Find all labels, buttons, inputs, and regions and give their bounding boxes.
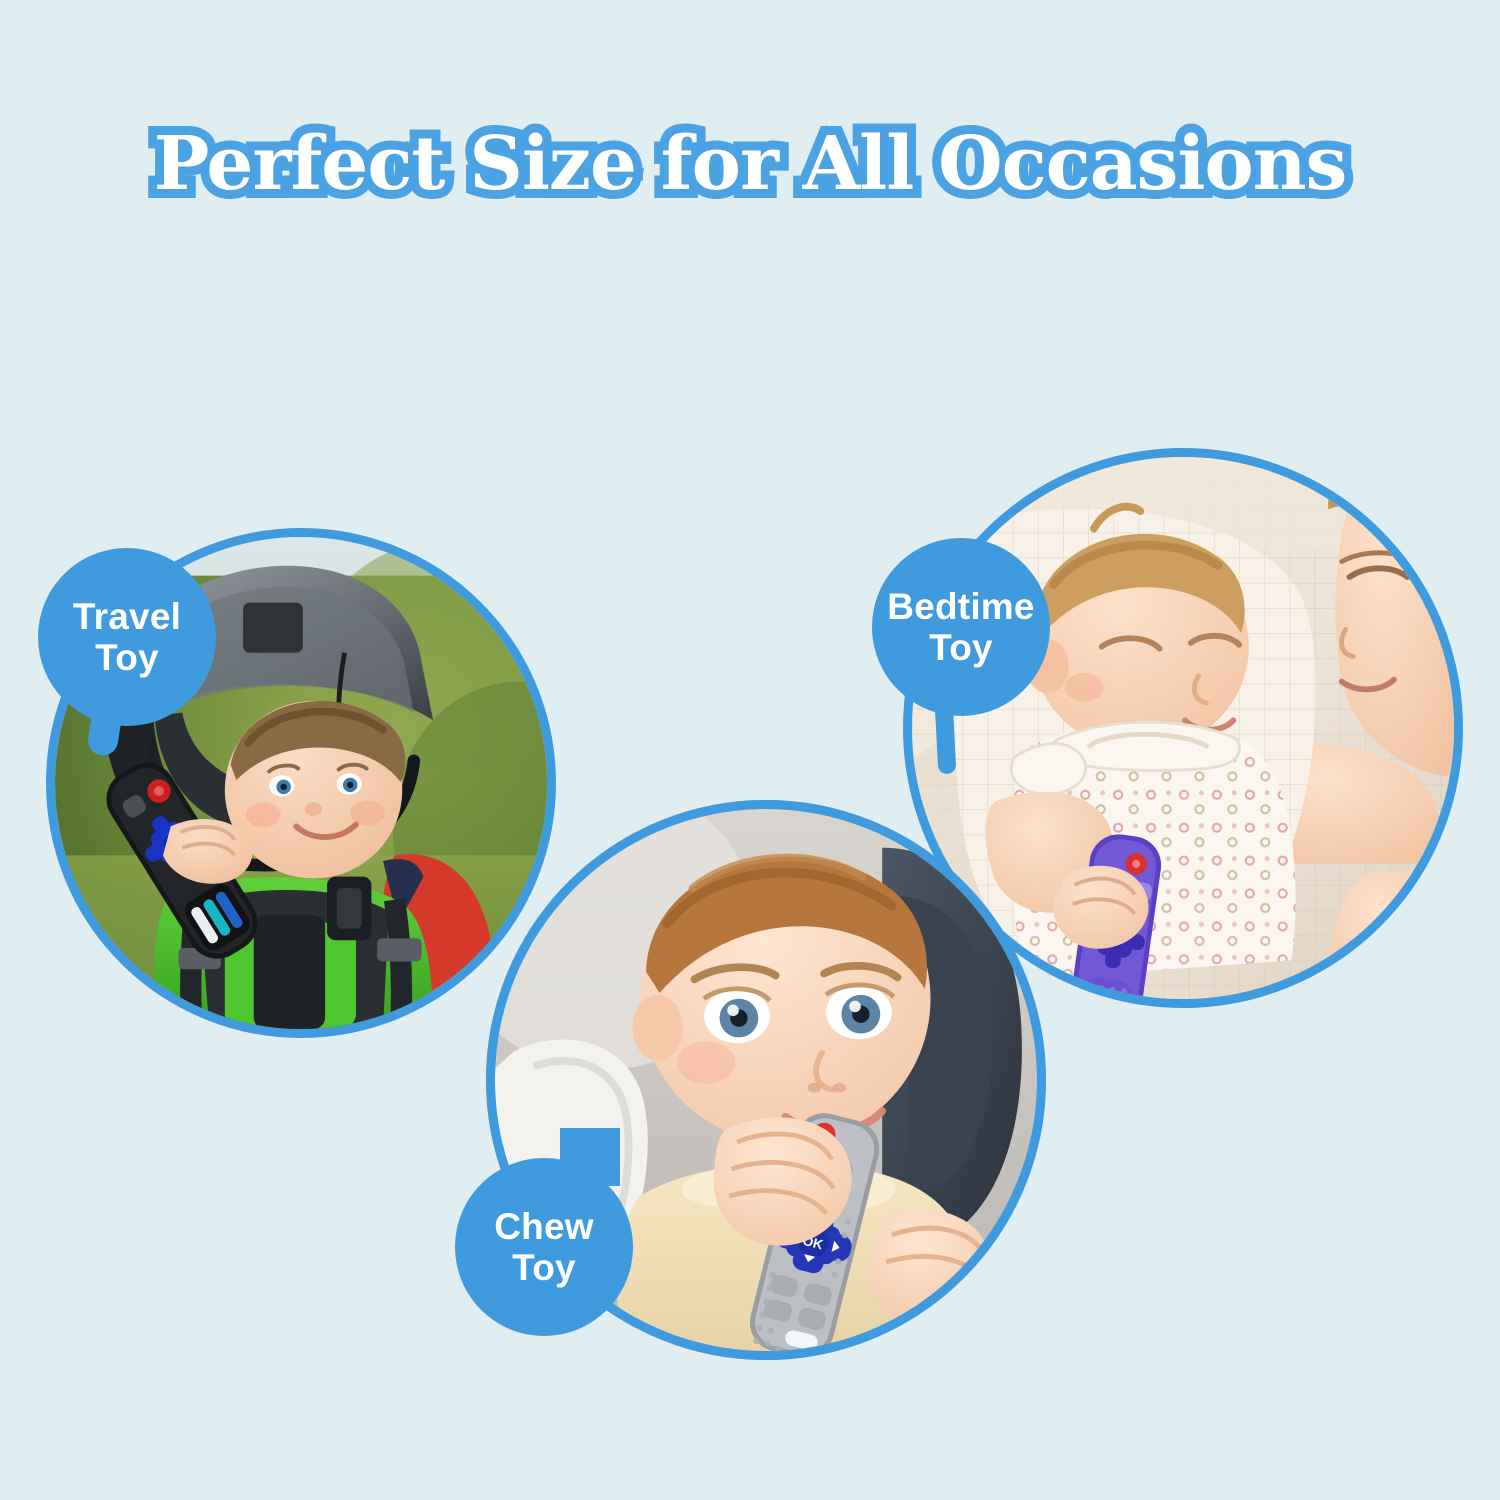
infographic-stage: Perfect Size for All Occasions bbox=[0, 0, 1500, 1500]
badge-bedtime-toy[interactable]: BedtimeToy bbox=[872, 538, 1050, 716]
badge-travel-toy[interactable]: TravelToy bbox=[38, 548, 216, 726]
badge-travel-label: TravelToy bbox=[73, 596, 181, 679]
badge-chew-label: ChewToy bbox=[494, 1206, 593, 1289]
badge-bedtime-label: BedtimeToy bbox=[887, 586, 1034, 669]
page-title-wrap: Perfect Size for All Occasions bbox=[0, 126, 1500, 236]
badge-chew-toy[interactable]: ChewToy bbox=[455, 1158, 633, 1336]
page-title: Perfect Size for All Occasions bbox=[154, 126, 1347, 204]
